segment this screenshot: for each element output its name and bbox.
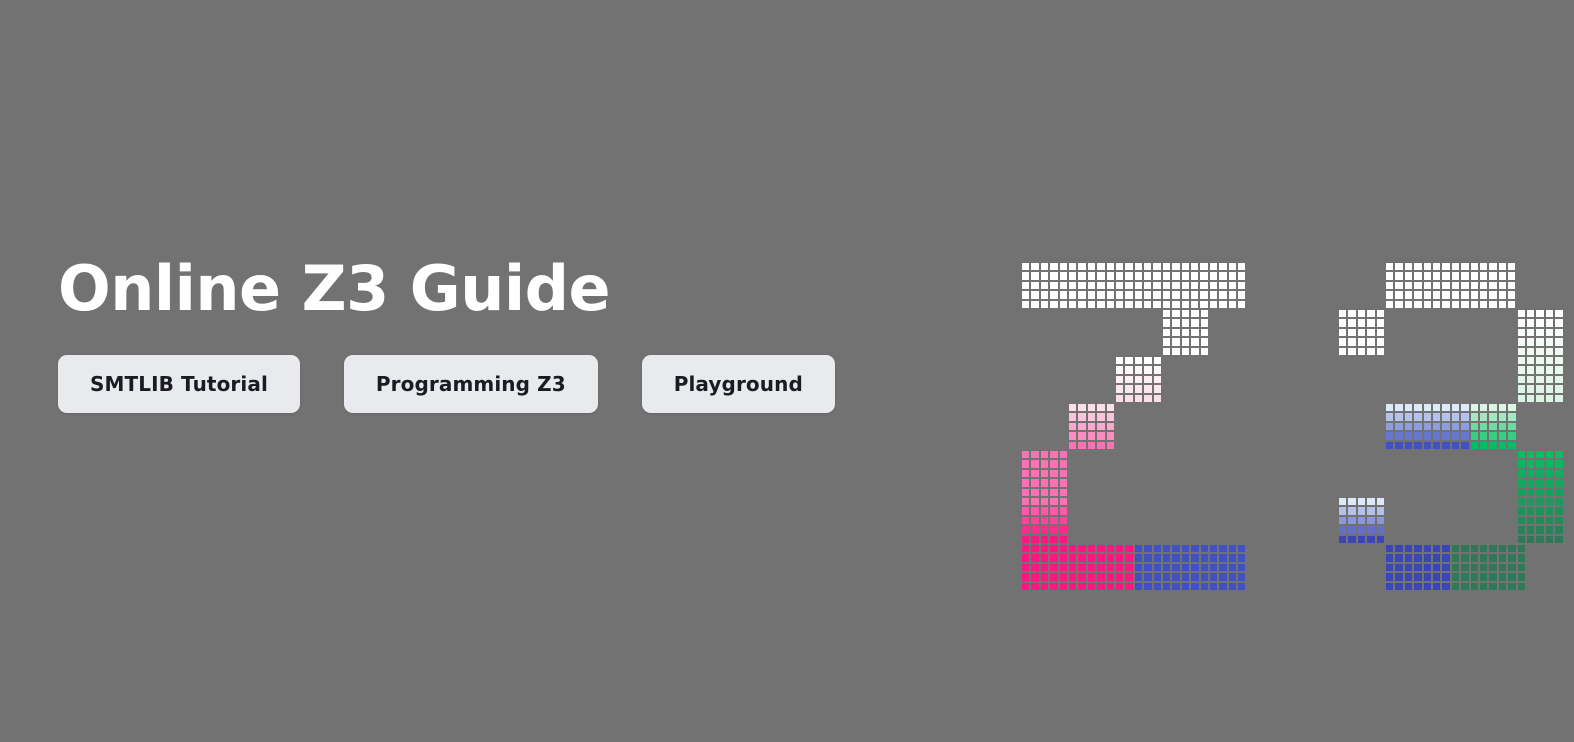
- pixel-cell: [1545, 450, 1554, 459]
- pixel-cell: [1451, 281, 1460, 290]
- pixel-cell: [1087, 544, 1096, 553]
- pixel-cell: [1441, 441, 1450, 450]
- pixel-cell: [1190, 309, 1199, 318]
- pixel-cell: [1209, 290, 1218, 299]
- pixel-cell: [1479, 553, 1488, 562]
- pixel-cell: [1366, 337, 1375, 346]
- pixel-cell: [1479, 412, 1488, 421]
- pixel-cell: [1432, 422, 1441, 431]
- pixel-cell: [1451, 544, 1460, 553]
- pixel-cell: [1040, 516, 1049, 525]
- pixel-cell: [1209, 300, 1218, 309]
- three-top-bar: [1385, 262, 1516, 309]
- pixel-cell: [1423, 441, 1432, 450]
- pixel-cell: [1124, 553, 1133, 562]
- pixel-cell: [1479, 281, 1488, 290]
- pixel-cell: [1413, 300, 1422, 309]
- pixel-cell: [1413, 271, 1422, 280]
- pixel-cell: [1488, 422, 1497, 431]
- pixel-cell: [1451, 271, 1460, 280]
- pixel-cell: [1059, 582, 1068, 591]
- pixel-cell: [1209, 553, 1218, 562]
- pixel-cell: [1106, 553, 1115, 562]
- pixel-cell: [1059, 300, 1068, 309]
- pixel-cell: [1030, 553, 1039, 562]
- pixel-cell: [1545, 478, 1554, 487]
- pixel-cell: [1338, 525, 1347, 534]
- pixel-cell: [1554, 469, 1563, 478]
- pixel-cell: [1545, 497, 1554, 506]
- pixel-cell: [1068, 572, 1077, 581]
- pixel-cell: [1059, 478, 1068, 487]
- pixel-cell: [1376, 328, 1385, 337]
- pixel-cell: [1545, 525, 1554, 534]
- pixel-cell: [1106, 412, 1115, 421]
- pixel-cell: [1200, 582, 1209, 591]
- pixel-cell: [1162, 281, 1171, 290]
- pixel-cell: [1087, 281, 1096, 290]
- pixel-cell: [1385, 281, 1394, 290]
- pixel-cell: [1535, 469, 1544, 478]
- pixel-cell: [1030, 544, 1039, 553]
- pixel-cell: [1432, 300, 1441, 309]
- pixel-cell: [1153, 375, 1162, 384]
- pixel-cell: [1432, 544, 1441, 553]
- pixel-cell: [1517, 384, 1526, 393]
- pixel-cell: [1507, 271, 1516, 280]
- pixel-cell: [1040, 478, 1049, 487]
- pixel-cell: [1517, 337, 1526, 346]
- pixel-cell: [1488, 572, 1497, 581]
- pixel-cell: [1030, 582, 1039, 591]
- pixel-cell: [1143, 262, 1152, 271]
- pixel-cell: [1535, 309, 1544, 318]
- pixel-cell: [1517, 469, 1526, 478]
- pixel-cell: [1087, 422, 1096, 431]
- pixel-cell: [1162, 553, 1171, 562]
- pixel-cell: [1030, 281, 1039, 290]
- pixel-cell: [1068, 403, 1077, 412]
- pixel-cell: [1545, 375, 1554, 384]
- pixel-cell: [1498, 262, 1507, 271]
- pixel-cell: [1394, 403, 1403, 412]
- pixel-cell: [1517, 318, 1526, 327]
- pixel-cell: [1152, 290, 1161, 299]
- pixel-cell: [1526, 337, 1535, 346]
- pixel-cell: [1451, 553, 1460, 562]
- pixel-cell: [1134, 582, 1143, 591]
- pixel-cell: [1040, 262, 1049, 271]
- pixel-cell: [1134, 563, 1143, 572]
- pixel-cell: [1021, 450, 1030, 459]
- pixel-cell: [1040, 544, 1049, 553]
- pixel-cell: [1526, 328, 1535, 337]
- pixel-cell: [1068, 290, 1077, 299]
- pixel-cell: [1096, 300, 1105, 309]
- pixel-cell: [1124, 290, 1133, 299]
- pixel-cell: [1106, 441, 1115, 450]
- pixel-cell: [1030, 290, 1039, 299]
- pixel-cell: [1347, 525, 1356, 534]
- pixel-cell: [1554, 516, 1563, 525]
- pixel-cell: [1470, 563, 1479, 572]
- pixel-cell: [1338, 318, 1347, 327]
- pixel-cell: [1171, 318, 1180, 327]
- pixel-cell: [1115, 365, 1124, 374]
- pixel-cell: [1049, 572, 1058, 581]
- pixel-cell: [1554, 337, 1563, 346]
- pixel-cell: [1460, 422, 1469, 431]
- pixel-cell: [1115, 290, 1124, 299]
- pixel-cell: [1209, 563, 1218, 572]
- pixel-cell: [1040, 525, 1049, 534]
- pixel-cell: [1470, 441, 1479, 450]
- pixel-cell: [1441, 563, 1450, 572]
- pixel-cell: [1545, 516, 1554, 525]
- pixel-cell: [1162, 582, 1171, 591]
- pixel-cell: [1030, 535, 1039, 544]
- pixel-cell: [1460, 441, 1469, 450]
- pixel-cell: [1470, 422, 1479, 431]
- pixel-cell: [1479, 271, 1488, 280]
- pixel-cell: [1554, 384, 1563, 393]
- pixel-cell: [1535, 365, 1544, 374]
- pixel-cell: [1124, 572, 1133, 581]
- pixel-cell: [1385, 441, 1394, 450]
- pixel-cell: [1199, 300, 1208, 309]
- pixel-cell: [1366, 347, 1375, 356]
- pixel-cell: [1171, 309, 1180, 318]
- pixel-cell: [1115, 300, 1124, 309]
- pixel-cell: [1049, 582, 1058, 591]
- three-top-left-nub: [1338, 309, 1385, 356]
- pixel-cell: [1404, 412, 1413, 421]
- pixel-cell: [1470, 300, 1479, 309]
- pixel-cell: [1106, 422, 1115, 431]
- pixel-cell: [1517, 516, 1526, 525]
- pixel-cell: [1385, 572, 1394, 581]
- pixel-cell: [1143, 375, 1152, 384]
- pixel-cell: [1517, 535, 1526, 544]
- pixel-cell: [1423, 544, 1432, 553]
- pixel-cell: [1554, 459, 1563, 468]
- pixel-cell: [1423, 271, 1432, 280]
- pixel-cell: [1554, 506, 1563, 515]
- pixel-cell: [1413, 262, 1422, 271]
- pixel-cell: [1049, 544, 1058, 553]
- pixel-cell: [1404, 300, 1413, 309]
- pixel-cell: [1077, 262, 1086, 271]
- pixel-cell: [1535, 459, 1544, 468]
- pixel-cell: [1021, 459, 1030, 468]
- pixel-cell: [1218, 553, 1227, 562]
- pixel-cell: [1488, 441, 1497, 450]
- pixel-cell: [1030, 516, 1039, 525]
- pixel-cell: [1545, 535, 1554, 544]
- pixel-cell: [1171, 563, 1180, 572]
- pixel-cell: [1228, 262, 1237, 271]
- pixel-cell: [1171, 544, 1180, 553]
- pixel-cell: [1517, 497, 1526, 506]
- pixel-cell: [1124, 365, 1133, 374]
- pixel-cell: [1535, 375, 1544, 384]
- pixel-cell: [1134, 375, 1143, 384]
- pixel-cell: [1488, 431, 1497, 440]
- pixel-cell: [1498, 431, 1507, 440]
- pixel-cell: [1441, 572, 1450, 581]
- pixel-cell: [1040, 450, 1049, 459]
- pixel-cell: [1124, 375, 1133, 384]
- pixel-cell: [1096, 262, 1105, 271]
- pixel-cell: [1059, 553, 1068, 562]
- pixel-cell: [1423, 300, 1432, 309]
- pixel-cell: [1218, 281, 1227, 290]
- pixel-cell: [1021, 563, 1030, 572]
- pixel-cell: [1040, 488, 1049, 497]
- pixel-cell: [1181, 563, 1190, 572]
- z-step-2: [1115, 356, 1162, 403]
- pixel-cell: [1507, 290, 1516, 299]
- pixel-cell: [1228, 553, 1237, 562]
- pixel-cell: [1366, 328, 1375, 337]
- pixel-cell: [1153, 563, 1162, 572]
- pixel-cell: [1545, 309, 1554, 318]
- pixel-cell: [1115, 582, 1124, 591]
- pixel-cell: [1153, 544, 1162, 553]
- pixel-cell: [1171, 553, 1180, 562]
- pixel-cell: [1517, 478, 1526, 487]
- pixel-cell: [1059, 572, 1068, 581]
- pixel-cell: [1049, 525, 1058, 534]
- pixel-cell: [1498, 412, 1507, 421]
- pixel-cell: [1190, 337, 1199, 346]
- pixel-cell: [1507, 422, 1516, 431]
- pixel-cell: [1517, 450, 1526, 459]
- pixel-cell: [1545, 469, 1554, 478]
- pixel-cell: [1228, 572, 1237, 581]
- pixel-cell: [1517, 356, 1526, 365]
- pixel-cell: [1096, 412, 1105, 421]
- pixel-cell: [1199, 290, 1208, 299]
- pixel-cell: [1106, 572, 1115, 581]
- pixel-cell: [1394, 290, 1403, 299]
- pixel-cell: [1423, 572, 1432, 581]
- pixel-cell: [1021, 525, 1030, 534]
- smtlib-tutorial-button[interactable]: SMTLIB Tutorial: [58, 355, 300, 413]
- pixel-cell: [1526, 384, 1535, 393]
- pixel-cell: [1376, 525, 1385, 534]
- pixel-cell: [1162, 262, 1171, 271]
- pixel-cell: [1554, 535, 1563, 544]
- pixel-cell: [1218, 582, 1227, 591]
- pixel-cell: [1068, 422, 1077, 431]
- pixel-cell: [1347, 535, 1356, 544]
- pixel-cell: [1190, 544, 1199, 553]
- pixel-cell: [1059, 450, 1068, 459]
- pixel-cell: [1049, 516, 1058, 525]
- pixel-cell: [1517, 553, 1526, 562]
- pixel-cell: [1181, 572, 1190, 581]
- pixel-cell: [1394, 412, 1403, 421]
- pixel-cell: [1376, 506, 1385, 515]
- pixel-cell: [1498, 563, 1507, 572]
- pixel-cell: [1507, 281, 1516, 290]
- pixel-cell: [1162, 347, 1171, 356]
- pixel-cell: [1199, 262, 1208, 271]
- pixel-cell: [1096, 281, 1105, 290]
- pixel-cell: [1181, 347, 1190, 356]
- pixel-cell: [1228, 300, 1237, 309]
- pixel-cell: [1209, 582, 1218, 591]
- pixel-cell: [1087, 271, 1096, 280]
- pixel-cell: [1545, 347, 1554, 356]
- pixel-cell: [1451, 403, 1460, 412]
- pixel-cell: [1096, 271, 1105, 280]
- pixel-cell: [1237, 281, 1246, 290]
- pixel-cell: [1517, 544, 1526, 553]
- pixel-cell: [1498, 300, 1507, 309]
- pixel-cell: [1385, 290, 1394, 299]
- pixel-cell: [1106, 563, 1115, 572]
- pixel-cell: [1077, 563, 1086, 572]
- pixel-cell: [1040, 290, 1049, 299]
- pixel-cell: [1171, 300, 1180, 309]
- pixel-cell: [1460, 281, 1469, 290]
- pixel-cell: [1423, 422, 1432, 431]
- pixel-cell: [1077, 431, 1086, 440]
- pixel-cell: [1526, 516, 1535, 525]
- pixel-cell: [1470, 544, 1479, 553]
- pixel-cell: [1218, 544, 1227, 553]
- pixel-cell: [1394, 572, 1403, 581]
- pixel-cell: [1441, 403, 1450, 412]
- pixel-cell: [1535, 497, 1544, 506]
- pixel-cell: [1479, 300, 1488, 309]
- pixel-cell: [1404, 544, 1413, 553]
- pixel-cell: [1507, 262, 1516, 271]
- pixel-cell: [1106, 431, 1115, 440]
- pixel-cell: [1554, 356, 1563, 365]
- pixel-cell: [1152, 300, 1161, 309]
- pixel-cell: [1059, 488, 1068, 497]
- pixel-cell: [1526, 450, 1535, 459]
- pixel-cell: [1134, 384, 1143, 393]
- pixel-cell: [1470, 281, 1479, 290]
- pixel-cell: [1115, 262, 1124, 271]
- pixel-cell: [1059, 544, 1068, 553]
- page-title: Online Z3 Guide: [58, 258, 958, 320]
- pixel-cell: [1162, 300, 1171, 309]
- pixel-cell: [1432, 412, 1441, 421]
- pixel-cell: [1460, 431, 1469, 440]
- pixel-cell: [1441, 553, 1450, 562]
- pixel-cell: [1526, 459, 1535, 468]
- pixel-cell: [1404, 262, 1413, 271]
- pixel-cell: [1077, 422, 1086, 431]
- pixel-cell: [1432, 582, 1441, 591]
- programming-z3-button[interactable]: Programming Z3: [344, 355, 598, 413]
- pixel-cell: [1460, 290, 1469, 299]
- pixel-cell: [1040, 582, 1049, 591]
- playground-button[interactable]: Playground: [642, 355, 835, 413]
- pixel-cell: [1049, 506, 1058, 515]
- pixel-cell: [1077, 572, 1086, 581]
- pixel-cell: [1106, 290, 1115, 299]
- pixel-cell: [1049, 488, 1058, 497]
- pixel-cell: [1338, 497, 1347, 506]
- pixel-cell: [1470, 262, 1479, 271]
- pixel-cell: [1535, 394, 1544, 403]
- pixel-cell: [1517, 506, 1526, 515]
- pixel-cell: [1432, 441, 1441, 450]
- pixel-cell: [1096, 431, 1105, 440]
- pixel-cell: [1190, 300, 1199, 309]
- pixel-cell: [1545, 356, 1554, 365]
- pixel-cell: [1526, 469, 1535, 478]
- pixel-cell: [1152, 281, 1161, 290]
- pixel-cell: [1554, 375, 1563, 384]
- pixel-cell: [1134, 553, 1143, 562]
- pixel-cell: [1228, 582, 1237, 591]
- pixel-cell: [1106, 281, 1115, 290]
- pixel-cell: [1124, 356, 1133, 365]
- pixel-cell: [1535, 488, 1544, 497]
- pixel-cell: [1181, 300, 1190, 309]
- pixel-cell: [1096, 422, 1105, 431]
- pixel-cell: [1237, 262, 1246, 271]
- pixel-cell: [1338, 347, 1347, 356]
- pixel-cell: [1143, 290, 1152, 299]
- pixel-cell: [1153, 384, 1162, 393]
- pixel-cell: [1134, 365, 1143, 374]
- pixel-cell: [1021, 553, 1030, 562]
- pixel-cell: [1087, 553, 1096, 562]
- pixel-cell: [1237, 563, 1246, 572]
- pixel-cell: [1526, 365, 1535, 374]
- pixel-cell: [1228, 281, 1237, 290]
- pixel-cell: [1190, 563, 1199, 572]
- pixel-cell: [1190, 572, 1199, 581]
- pixel-cell: [1059, 563, 1068, 572]
- pixel-cell: [1143, 384, 1152, 393]
- pixel-cell: [1460, 262, 1469, 271]
- pixel-cell: [1021, 469, 1030, 478]
- pixel-cell: [1451, 431, 1460, 440]
- pixel-cell: [1526, 309, 1535, 318]
- pixel-cell: [1115, 375, 1124, 384]
- pixel-cell: [1040, 535, 1049, 544]
- pixel-cell: [1115, 384, 1124, 393]
- pixel-cell: [1124, 394, 1133, 403]
- pixel-cell: [1394, 582, 1403, 591]
- pixel-cell: [1059, 271, 1068, 280]
- pixel-cell: [1162, 309, 1171, 318]
- pixel-cell: [1460, 582, 1469, 591]
- pixel-cell: [1366, 318, 1375, 327]
- pixel-cell: [1134, 281, 1143, 290]
- pixel-cell: [1030, 459, 1039, 468]
- pixel-cell: [1488, 262, 1497, 271]
- pixel-cell: [1479, 422, 1488, 431]
- pixel-cell: [1115, 271, 1124, 280]
- pixel-cell: [1200, 553, 1209, 562]
- hero-button-row: SMTLIB Tutorial Programming Z3 Playgroun…: [58, 355, 958, 413]
- pixel-cell: [1338, 328, 1347, 337]
- pixel-cell: [1171, 337, 1180, 346]
- pixel-cell: [1498, 422, 1507, 431]
- pixel-cell: [1470, 290, 1479, 299]
- pixel-cell: [1190, 271, 1199, 280]
